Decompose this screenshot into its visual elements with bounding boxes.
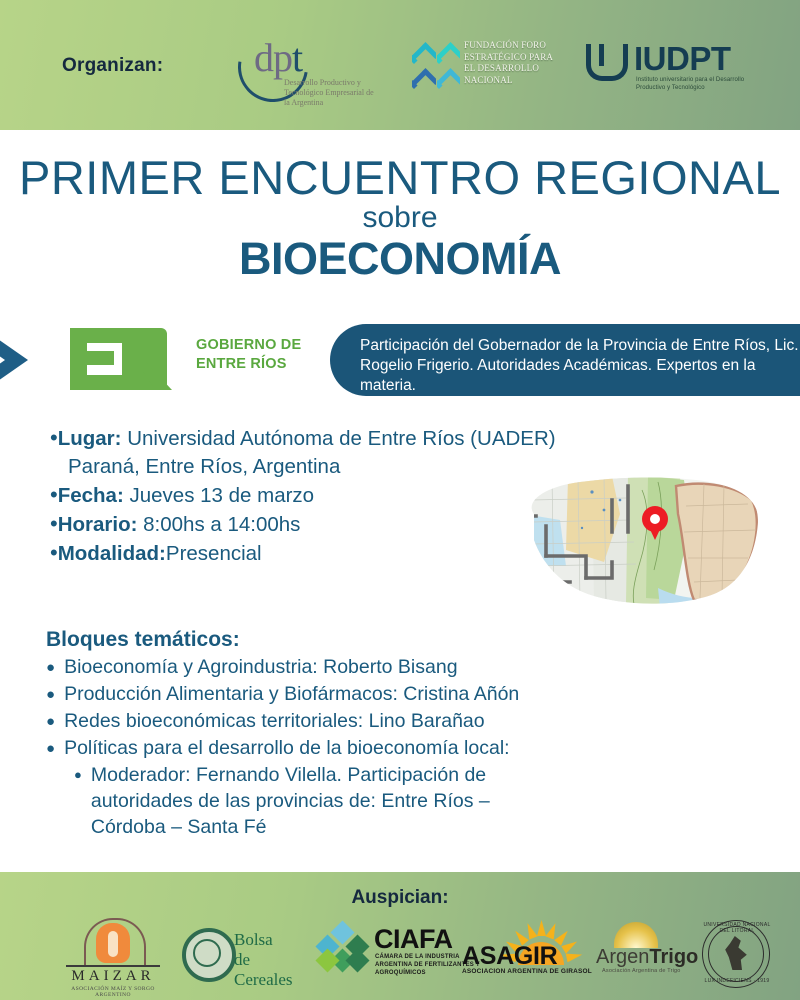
bullet-icon: • [50, 540, 58, 565]
bullet-icon: • [50, 511, 58, 536]
sponsor-logo-row: MAIZAR ASOCIACIÓN MAÍZ Y SORGO ARGENTINO… [0, 918, 800, 988]
dpt-subtitle: Desarrollo Productivo y Tecnológico Empr… [284, 78, 374, 108]
ciafa-wordmark: CIAFA [374, 924, 453, 955]
bolsa-seal-icon [182, 928, 236, 982]
divider [66, 965, 160, 967]
event-details-list: •Lugar: Universidad Autónoma de Entre Rí… [50, 424, 520, 568]
asagir-subtitle: ASOCIACION ARGENTINA DE GIRASOL [462, 968, 592, 975]
asagir-logo: ASAGIR ASOCIACION ARGENTINA DE GIRASOL [462, 920, 592, 984]
argentrigo-logo: ArgenTrigo Asociación Argentina de Trigo [596, 922, 706, 982]
foro-arrows-icon [412, 42, 460, 92]
bullet-icon: • [50, 482, 58, 507]
organizan-label: Organizan: [62, 55, 163, 77]
entre-rios-logo-icon [70, 328, 190, 390]
sponsors-band: Auspician: MAIZAR ASOCIACIÓN MAÍZ Y SORG… [0, 872, 800, 1000]
bolsa-wordmark: Bolsa de Cereales [234, 930, 312, 990]
detail-modalidad: •Modalidad:Presencial [50, 539, 520, 568]
argentrigo-subtitle: Asociación Argentina de Trigo [602, 968, 702, 974]
maizar-subtitle: ASOCIACIÓN MAÍZ Y SORGO ARGENTINO [58, 986, 168, 998]
foro-logo-text: FUNDACIÓN FORO ESTRATÉGICO PARA EL DESAR… [464, 40, 562, 86]
event-poster: Organizan: dpt Desarrollo Productivo y T… [0, 0, 800, 1000]
detail-lugar: •Lugar: Universidad Autónoma de Entre Rí… [50, 424, 520, 453]
gobierno-entre-rios-label: GOBIERNO DE ENTRE RÍOS [196, 336, 301, 374]
location-map [508, 470, 776, 610]
fundacion-foro-logo: FUNDACIÓN FORO ESTRATÉGICO PARA EL DESAR… [412, 40, 562, 100]
governor-participation-callout: Participación del Gobernador de la Provi… [330, 324, 800, 396]
asagir-wordmark: ASAGIR [462, 942, 557, 971]
unl-bottom-text: LUX INDEFICIENS · 1919 [700, 978, 774, 984]
argentrigo-wordmark: ArgenTrigo [596, 946, 698, 969]
thematic-blocks-section: Bloques temáticos: ● Bioeconomía y Agroi… [46, 628, 706, 840]
er-banner-row: GOBIERNO DE ENTRE RÍOS Participación del… [0, 310, 800, 410]
ciafa-diamonds-icon [318, 926, 368, 976]
dpt-wordmark: dpt [254, 34, 302, 81]
maizar-logo: MAIZAR ASOCIACIÓN MAÍZ Y SORGO ARGENTINO [58, 918, 168, 988]
bullet-icon: • [50, 425, 58, 450]
maizar-wordmark: MAIZAR [58, 968, 168, 985]
argentrigo-wheat-sun-icon [614, 922, 658, 948]
chevron-notch [0, 344, 5, 376]
bullet-icon: ● [46, 708, 55, 735]
iudpt-subtitle: Instituto universitario para el Desarrol… [636, 76, 746, 92]
dpt-logo: dpt Desarrollo Productivo y Tecnológico … [238, 28, 358, 113]
unl-logo: UNIVERSIDAD NACIONAL DEL LITORAL LUX IND… [700, 918, 774, 988]
list-item: ● Políticas para el desarrollo de la bio… [46, 735, 706, 762]
iudpt-u-icon [586, 44, 624, 84]
bolsa-de-cereales-logo: Bolsa de Cereales [182, 924, 312, 982]
list-item: ● Bioeconomía y Agroindustria: Roberto B… [46, 654, 706, 681]
organizers-band: Organizan: dpt Desarrollo Productivo y T… [0, 0, 800, 130]
unl-top-text: UNIVERSIDAD NACIONAL DEL LITORAL [700, 922, 774, 934]
map-pin-icon [642, 506, 668, 540]
detail-fecha: •Fecha: Jueves 13 de marzo [50, 481, 520, 510]
iudpt-logo: IUDPT Instituto universitario para el De… [586, 44, 751, 99]
page-title: PRIMER ENCUENTRO REGIONAL [0, 150, 800, 205]
title-topic: BIOECONOMÍA [0, 233, 800, 285]
title-connector: sobre [0, 201, 800, 235]
detail-lugar-continuation: Paraná, Entre Ríos, Argentina [50, 453, 520, 481]
auspician-label: Auspician: [0, 887, 800, 909]
maizar-kernel-icon [96, 923, 130, 963]
ciafa-logo: CIAFA CÁMARA DE LA INDUSTRIA ARGENTINA D… [318, 922, 478, 984]
list-item: ● Producción Alimentaria y Biofármacos: … [46, 681, 706, 708]
title-block: PRIMER ENCUENTRO REGIONAL sobre BIOECONO… [0, 130, 800, 310]
bullet-icon: ● [74, 762, 82, 788]
iudpt-wordmark: IUDPT [634, 40, 731, 78]
list-item-nested: ● Moderador: Fernando Vilella. Participa… [74, 762, 706, 840]
thematic-blocks-title: Bloques temáticos: [46, 628, 706, 652]
list-item: ● Redes bioeconómicas territoriales: Lin… [46, 708, 706, 735]
detail-horario: •Horario: 8:00hs a 14:00hs [50, 510, 520, 539]
bullet-icon: ● [46, 654, 55, 681]
map-illustration [508, 470, 776, 610]
bullet-icon: ● [46, 681, 55, 708]
bullet-icon: ● [46, 735, 55, 762]
